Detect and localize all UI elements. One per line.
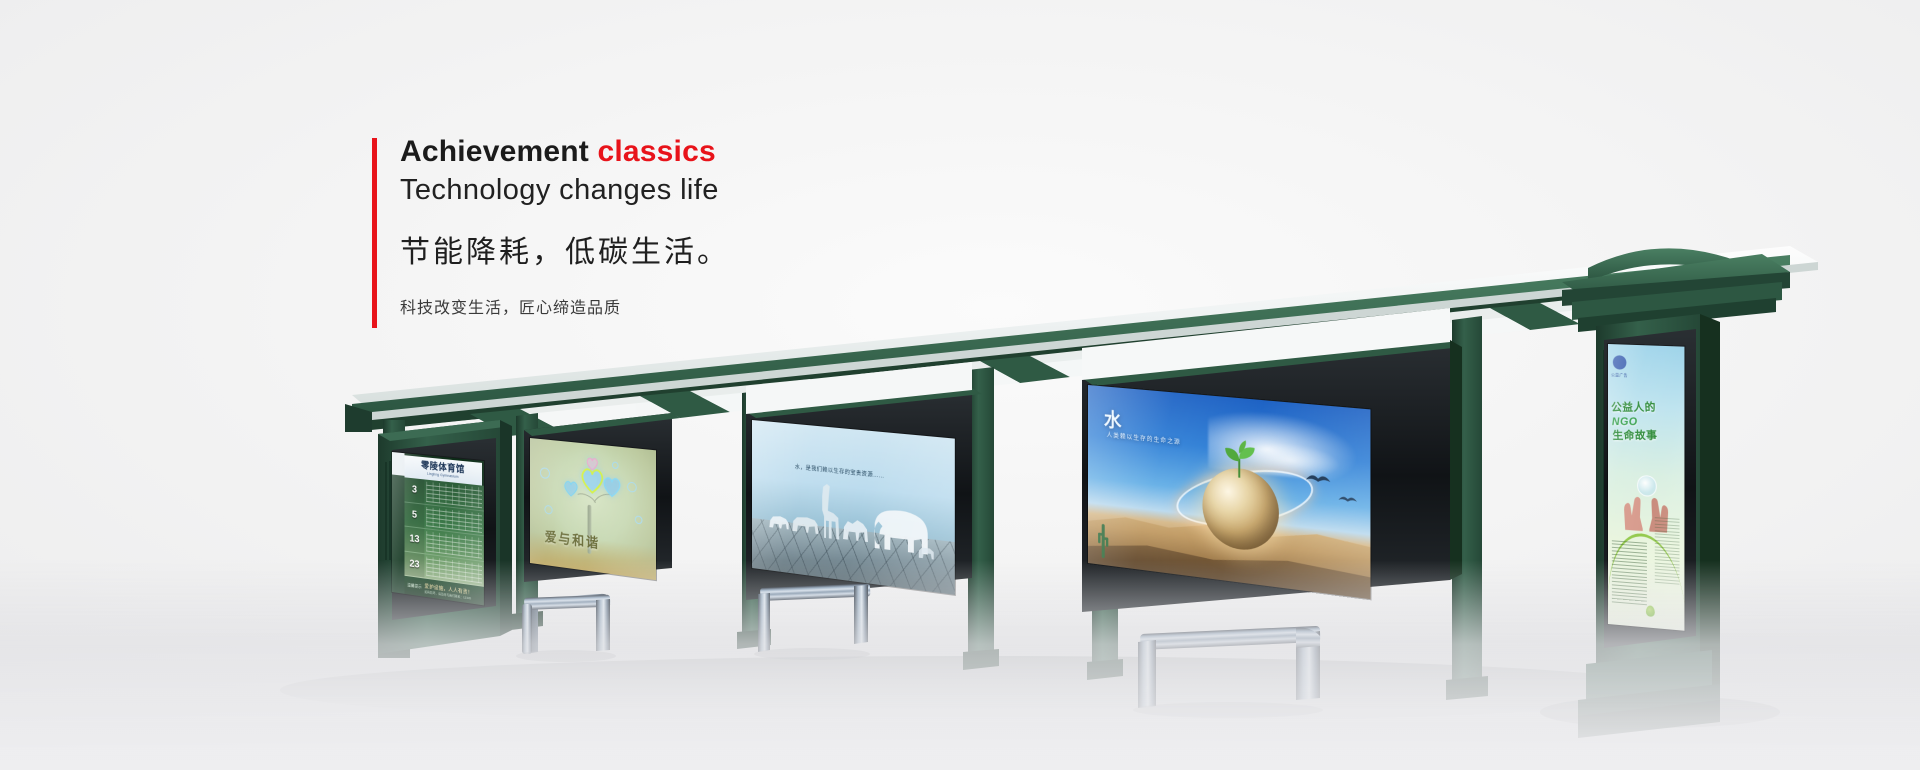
water-ad-subtitle: 人类赖以生存的生命之源 — [1107, 430, 1181, 446]
bench-1 — [522, 594, 610, 654]
bubble — [540, 467, 550, 479]
kiosk-body-copy — [1612, 540, 1647, 605]
timetable-cabinet-side — [500, 420, 512, 636]
footer-tag: 温馨提示 — [405, 583, 425, 590]
timetable-left-rail — [392, 452, 405, 594]
bird-icon — [1305, 471, 1331, 486]
heart-icon — [586, 456, 599, 471]
kiosk-title-line-2: 生命故事 — [1612, 429, 1657, 441]
sprout-icon — [1208, 436, 1270, 483]
bird-icon — [1338, 493, 1359, 505]
bubble — [612, 461, 619, 469]
panel-animals-ad[interactable]: 水，是我们赖以生存的宝贵资源…… — [752, 420, 955, 595]
kiosk-logo-icon — [1613, 353, 1626, 373]
route-number: 23 — [405, 551, 425, 577]
heart-icon — [563, 479, 580, 497]
bubble — [627, 481, 637, 492]
route-number: 3 — [405, 477, 425, 503]
animal-silhouette-small — [767, 510, 791, 531]
kiosk-ad-title: 公益人的NGO生命故事 — [1611, 401, 1683, 443]
cactus-icon — [1096, 518, 1109, 559]
kiosk-title-ngo: NGO — [1611, 416, 1637, 428]
kiosk-body-side — [1700, 314, 1720, 700]
animal-silhouette-camel — [841, 512, 874, 545]
panel-timetable[interactable]: 零陵体育馆 Lingling Gymnasium 3 5 13 — [392, 452, 484, 605]
banner-stage: Achievement classics Technology changes … — [0, 0, 1920, 770]
route-number: 13 — [405, 527, 425, 553]
timetable-body: 3 5 13 23 — [405, 477, 484, 586]
panel-tree-ad[interactable]: 爱与和谐 — [530, 438, 656, 580]
panel-kiosk-ad[interactable]: 公益广告 公益人的NGO生命故事 — [1608, 344, 1684, 631]
heart-icon — [602, 476, 623, 499]
kiosk-title-line-1: 公益人的 — [1611, 402, 1656, 414]
route-number: 5 — [405, 502, 425, 528]
animals-ad-caption: 水，是我们赖以生存的宝贵资源…… — [795, 463, 885, 480]
bubble — [545, 505, 553, 515]
panel-water-frame-side — [1450, 340, 1462, 580]
kiosk-logo-text: 公益广告 — [1611, 372, 1628, 379]
bench-2 — [758, 583, 870, 652]
animal-silhouette-calf — [917, 544, 937, 561]
bubble — [635, 515, 643, 524]
kiosk-body-copy-secondary — [1655, 515, 1680, 585]
panel-water-ad[interactable]: 水 人类赖以生存的生命之源 — [1088, 385, 1370, 599]
